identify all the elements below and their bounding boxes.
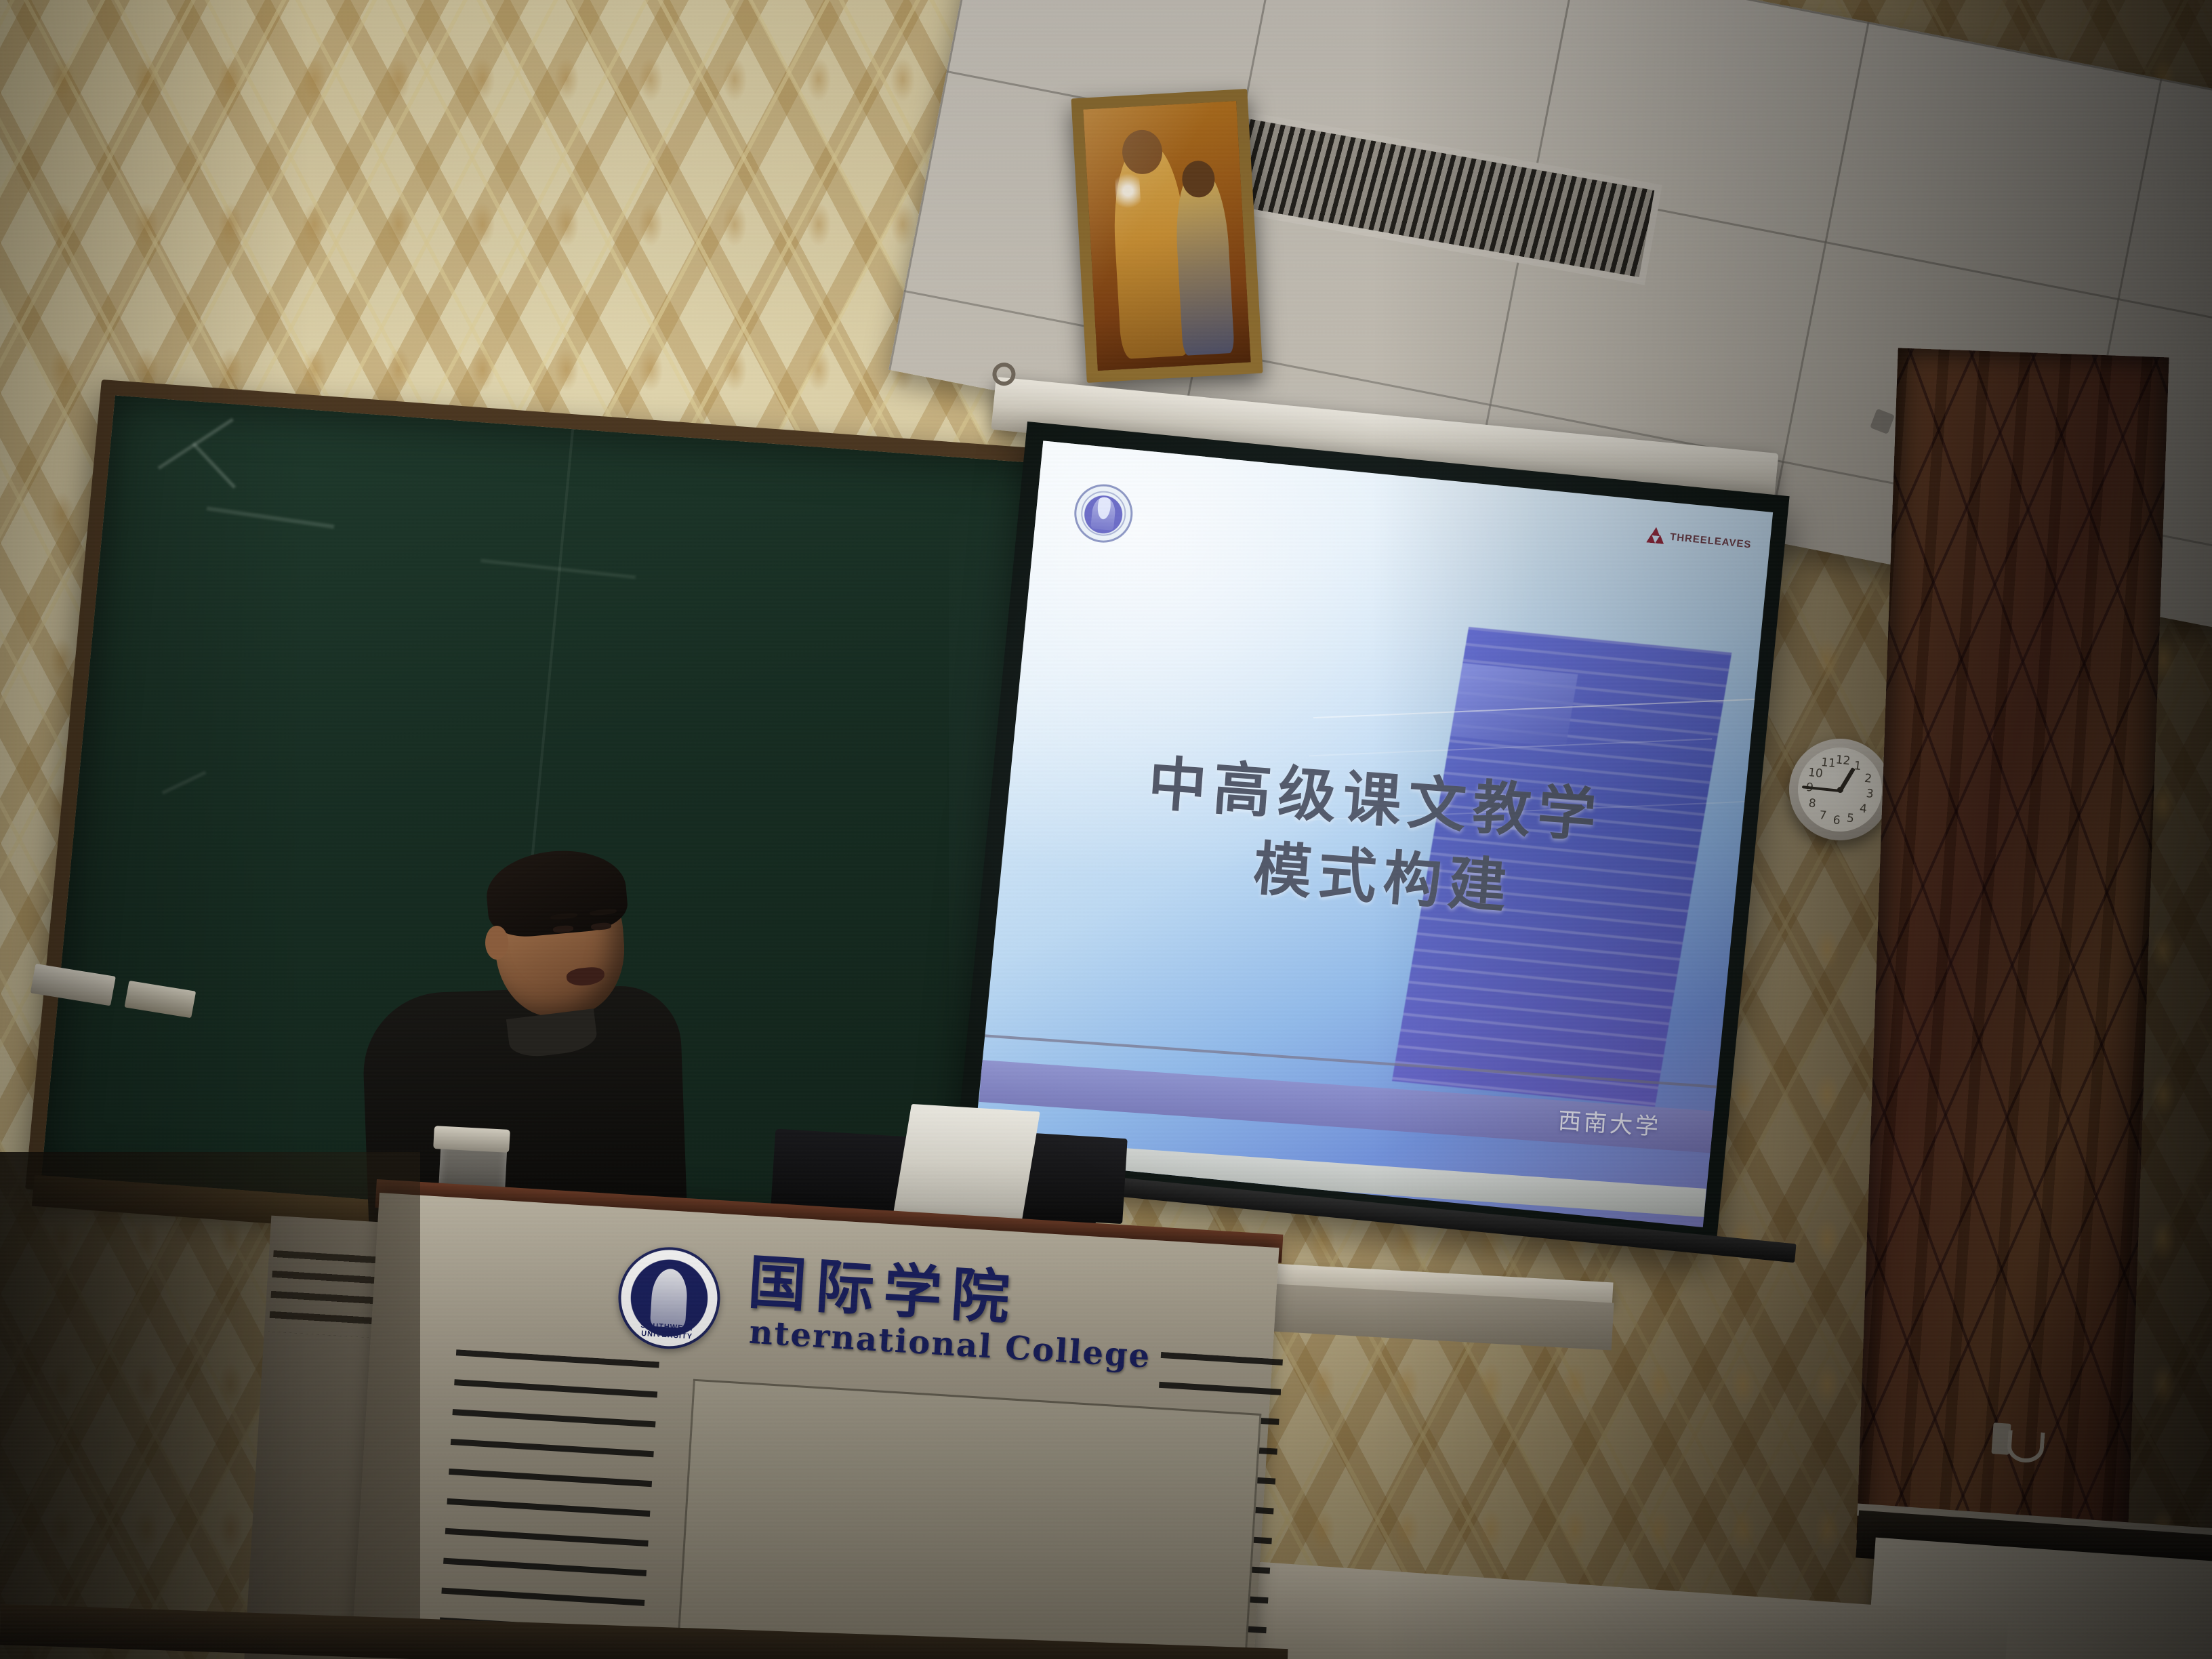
lecture-hall-photo: 中高级课文教学 模式构建 西南大学 THREELEAVES 12 1 2 3 4…	[0, 0, 2212, 1659]
photo-vignette	[0, 0, 2212, 1659]
